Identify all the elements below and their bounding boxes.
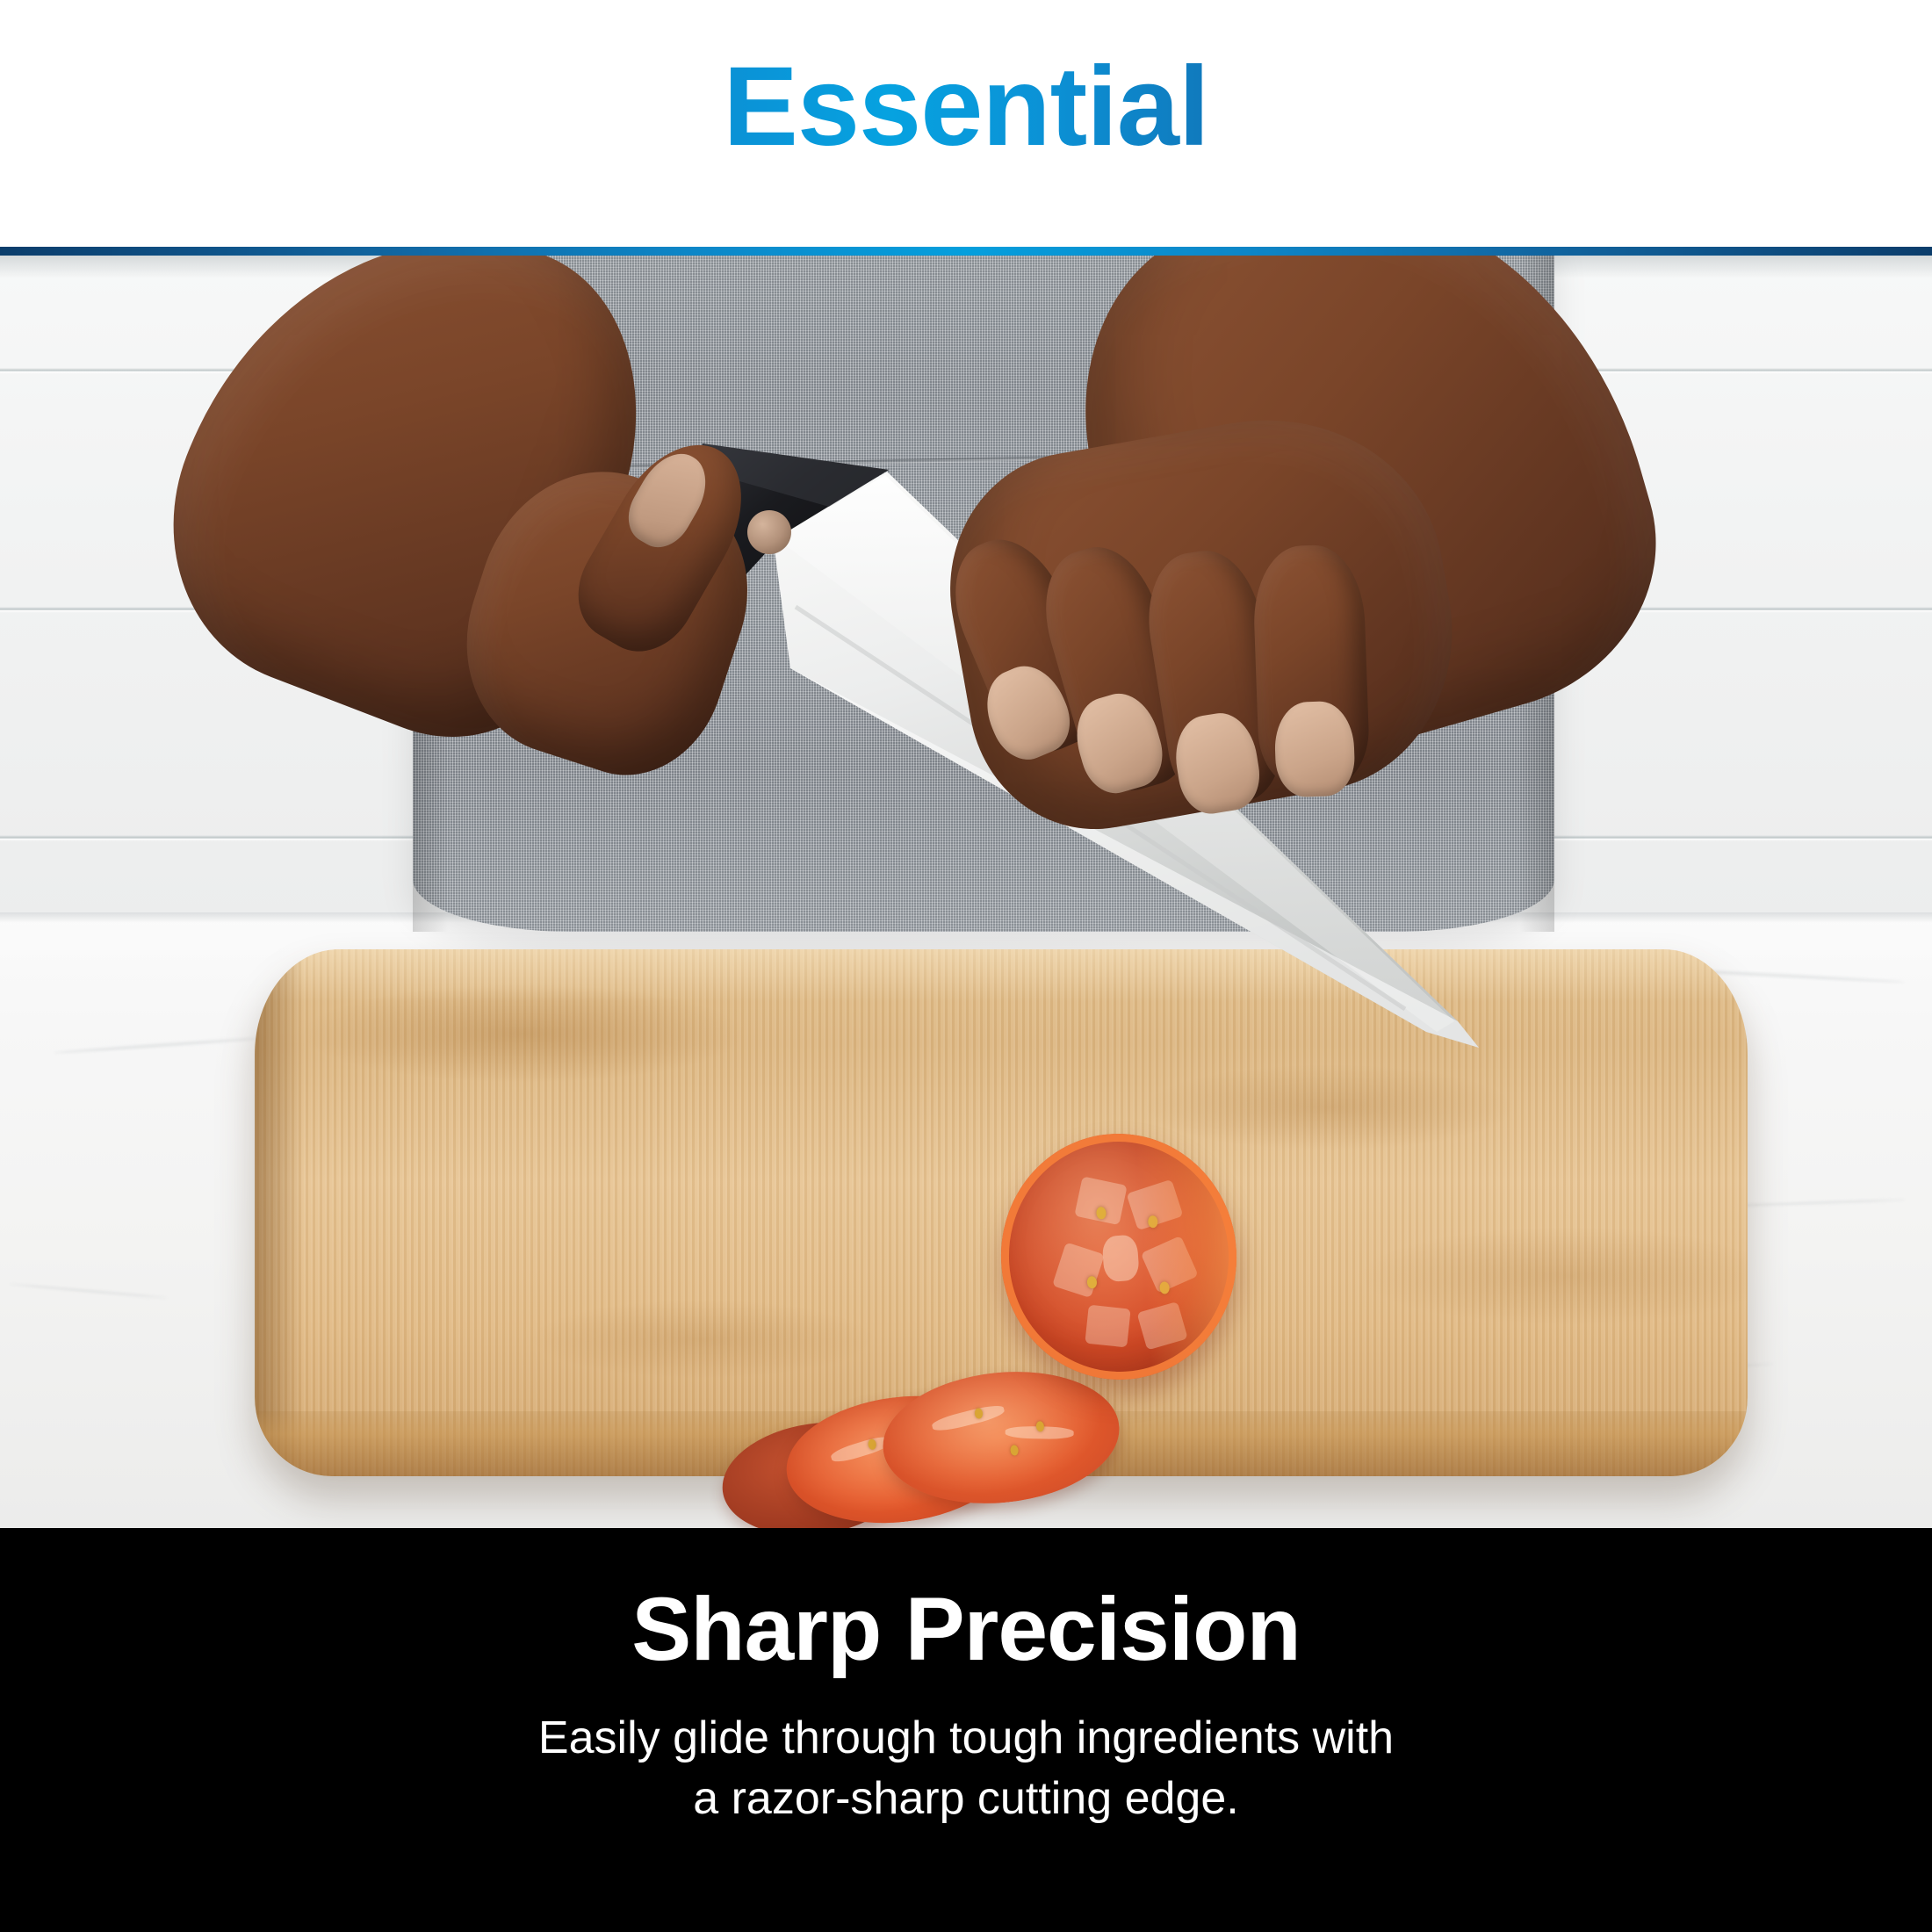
header-divider-bar [0,247,1932,256]
product-lifestyle-photo [0,256,1932,1528]
right-little-fingernail [1273,700,1356,797]
caption-subtitle-line-2: a razor-sharp cutting edge. [538,1769,1394,1829]
marble-vein [53,1037,263,1055]
caption-heading: Sharp Precision [631,1582,1301,1676]
tomato-flesh-rib [931,1402,1006,1434]
product-feature-card: Essential [0,0,1932,1932]
marble-vein [9,1283,166,1299]
caption-subtitle: Easily glide through tough ingredients w… [538,1708,1394,1828]
header-bar: Essential [0,0,1932,247]
caption-panel: Sharp Precision Easily glide through tou… [0,1528,1932,1932]
caption-subtitle-line-1: Easily glide through tough ingredients w… [538,1708,1394,1769]
brand-title: Essential [0,51,1932,163]
board-side-shadow [255,949,304,1476]
board-highlight [255,949,1748,1002]
tomato-seed [1010,1445,1019,1456]
